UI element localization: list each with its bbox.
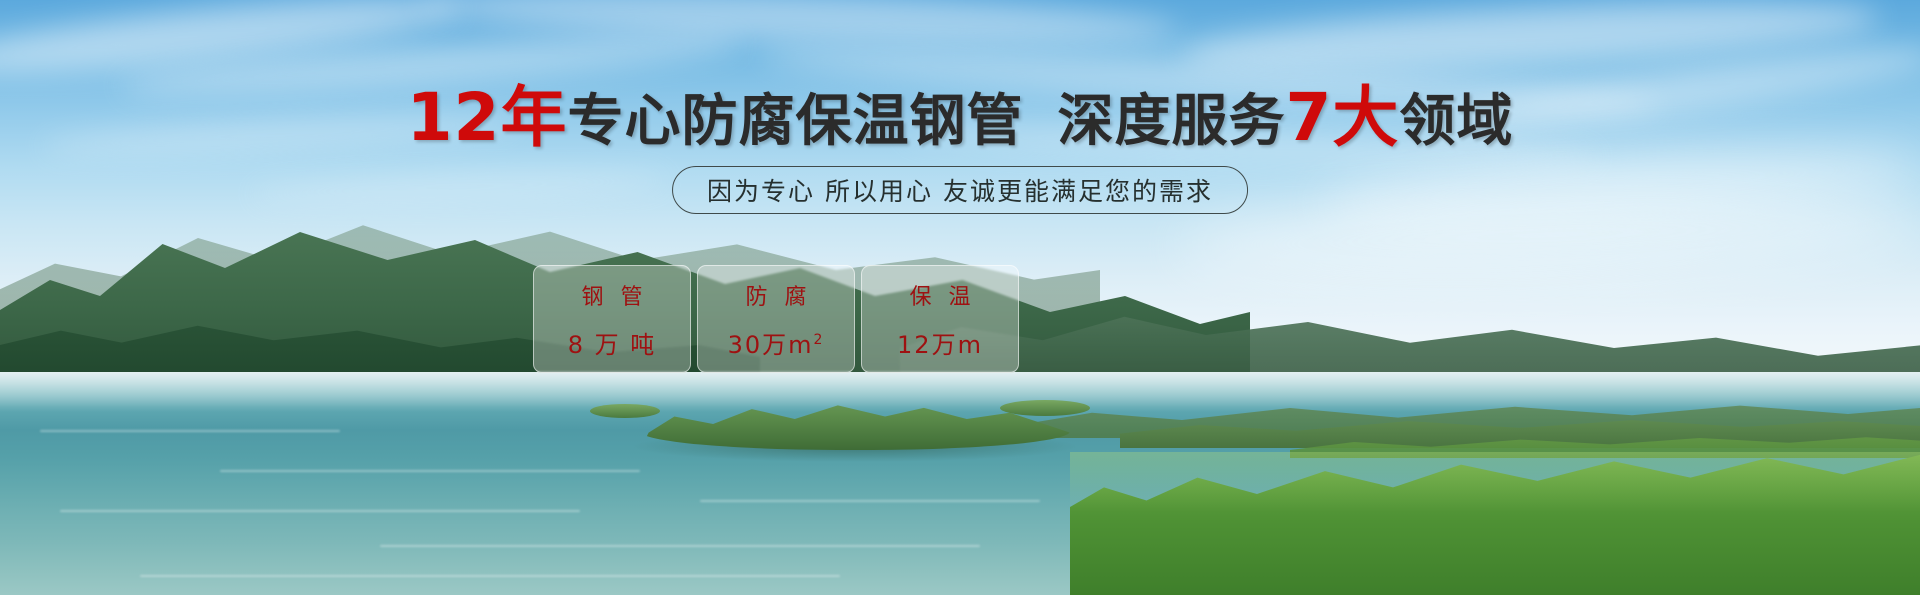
water-ripple [380, 545, 980, 547]
promo-banner: 12年专心防腐保温钢管深度服务7大领域 因为专心 所以用心 友诚更能满足您的需求… [0, 0, 1920, 595]
stat-value-main: 8 万 吨 [568, 331, 657, 359]
water-ripple [60, 510, 580, 512]
stat-card-anticorrosion: 防 腐 30万m2 [697, 265, 855, 373]
stat-card-title: 防 腐 [741, 279, 812, 311]
stat-card-value: 8 万 吨 [568, 325, 657, 360]
water-ripple [700, 500, 1040, 502]
stat-card-title: 钢 管 [577, 279, 648, 311]
stat-card-title: 保 温 [905, 279, 976, 311]
islet-small [1000, 400, 1090, 416]
water-ripple [40, 430, 340, 432]
water-ripple [220, 470, 640, 472]
headline: 12年专心防腐保温钢管深度服务7大领域 [0, 88, 1920, 152]
islet-small [590, 404, 660, 418]
headline-seven: 7大 [1285, 79, 1399, 156]
headline-main: 专心防腐保温钢管 [567, 89, 1023, 154]
stat-value-superscript: 2 [814, 332, 825, 348]
headline-years: 12年 [407, 79, 568, 156]
stat-card-group: 钢 管 8 万 吨 防 腐 30万m2 保 温 12万m [533, 265, 1019, 373]
water-highlight [0, 372, 1920, 412]
water-ripple [140, 575, 840, 577]
subtitle-text: 因为专心 所以用心 友诚更能满足您的需求 [707, 172, 1213, 208]
stat-card-steel-pipe: 钢 管 8 万 吨 [533, 265, 691, 373]
stat-card-insulation: 保 温 12万m [861, 265, 1019, 373]
stat-card-value: 12万m [897, 325, 983, 360]
headline-fields: 领域 [1399, 89, 1513, 154]
stat-card-value: 30万m2 [728, 325, 825, 360]
headline-service: 深度服务 [1057, 89, 1285, 154]
stat-value-main: 30万m [728, 331, 814, 359]
stat-value-main: 12万m [897, 331, 983, 359]
subtitle-pill: 因为专心 所以用心 友诚更能满足您的需求 [672, 166, 1248, 214]
